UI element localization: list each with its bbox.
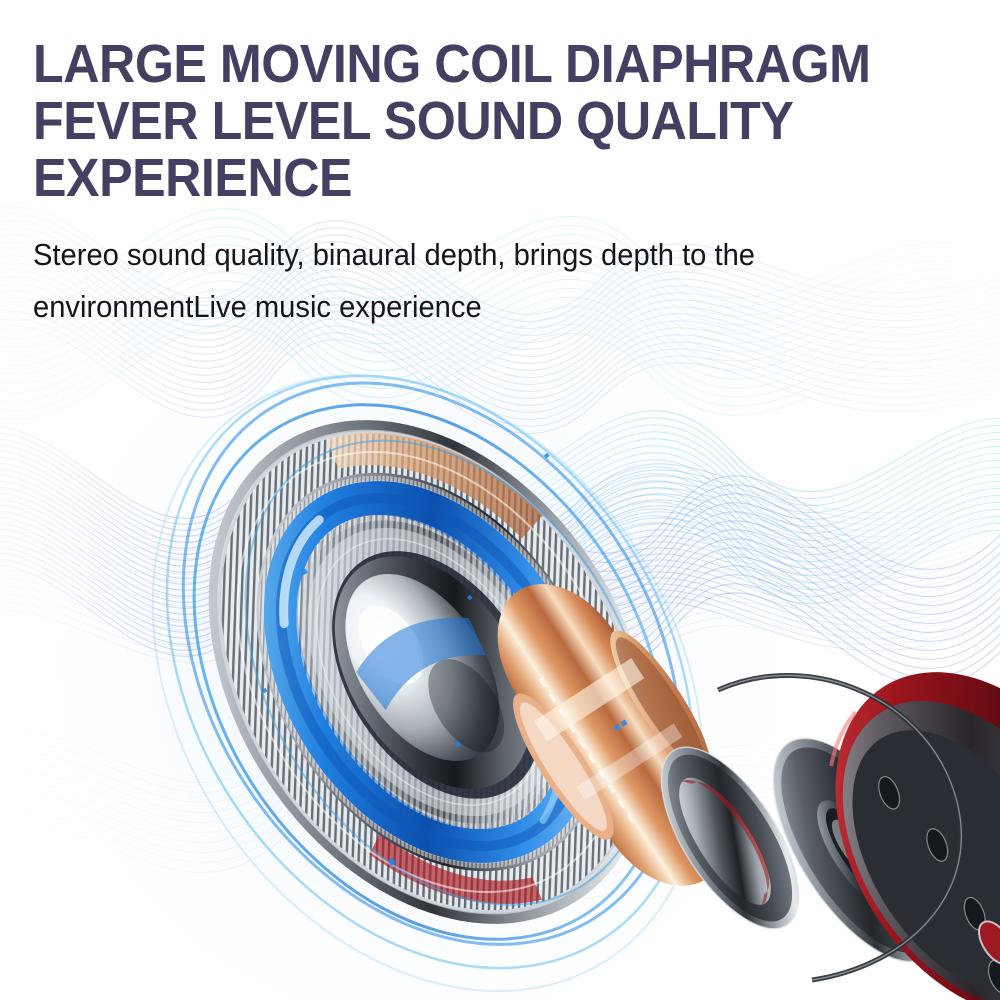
wave-group-left (0, 427, 1000, 688)
diaphragm-driver (40, 271, 815, 1000)
page-title: LARGE MOVING COIL DIAPHRAGM FEVER LEVEL … (33, 36, 907, 207)
wave-group-right (340, 411, 1000, 687)
pole-plate (635, 726, 825, 951)
page-subtitle: Stereo sound quality, binaural depth, br… (33, 207, 917, 333)
voice-coil-wire (718, 675, 961, 980)
poster-text-block: LARGE MOVING COIL DIAPHRAGM FEVER LEVEL … (33, 36, 973, 333)
driver-housing (774, 617, 1000, 1000)
voice-coil (451, 547, 773, 923)
light-speckles (262, 453, 599, 866)
wave-group-bottom (0, 693, 1000, 898)
magnet-washer (740, 711, 977, 989)
product-poster: LARGE MOVING COIL DIAPHRAGM FEVER LEVEL … (0, 0, 1000, 1000)
